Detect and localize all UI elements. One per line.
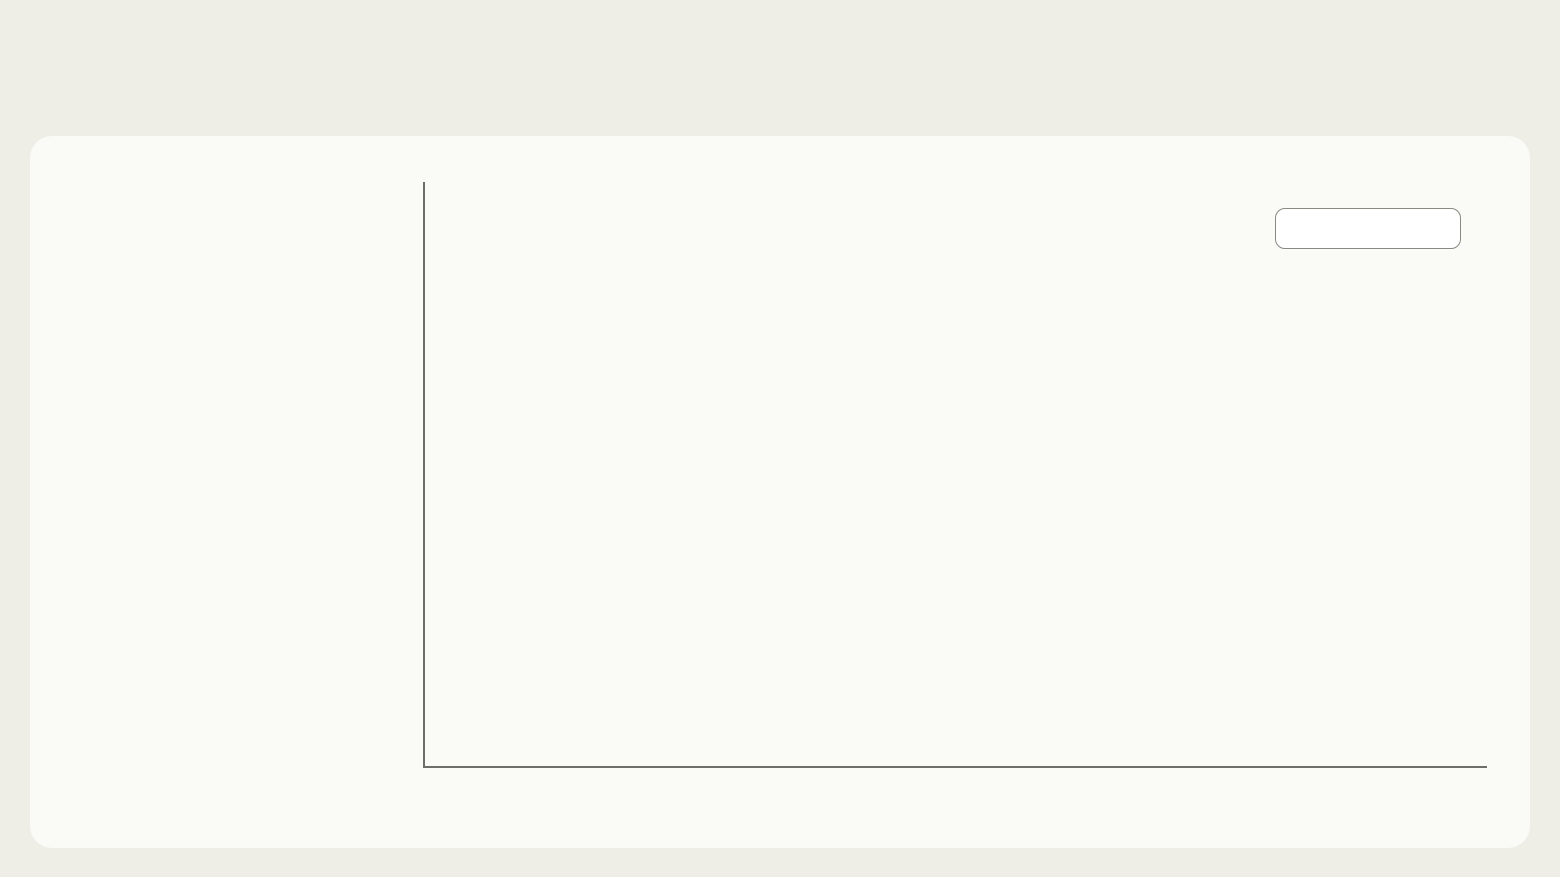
- chart-card: [30, 136, 1530, 848]
- x-axis-spine: [423, 766, 1487, 768]
- y-axis-spine: [423, 182, 425, 768]
- legend: [1275, 208, 1461, 249]
- category-axis: [30, 136, 410, 848]
- plot-area: [423, 182, 1487, 768]
